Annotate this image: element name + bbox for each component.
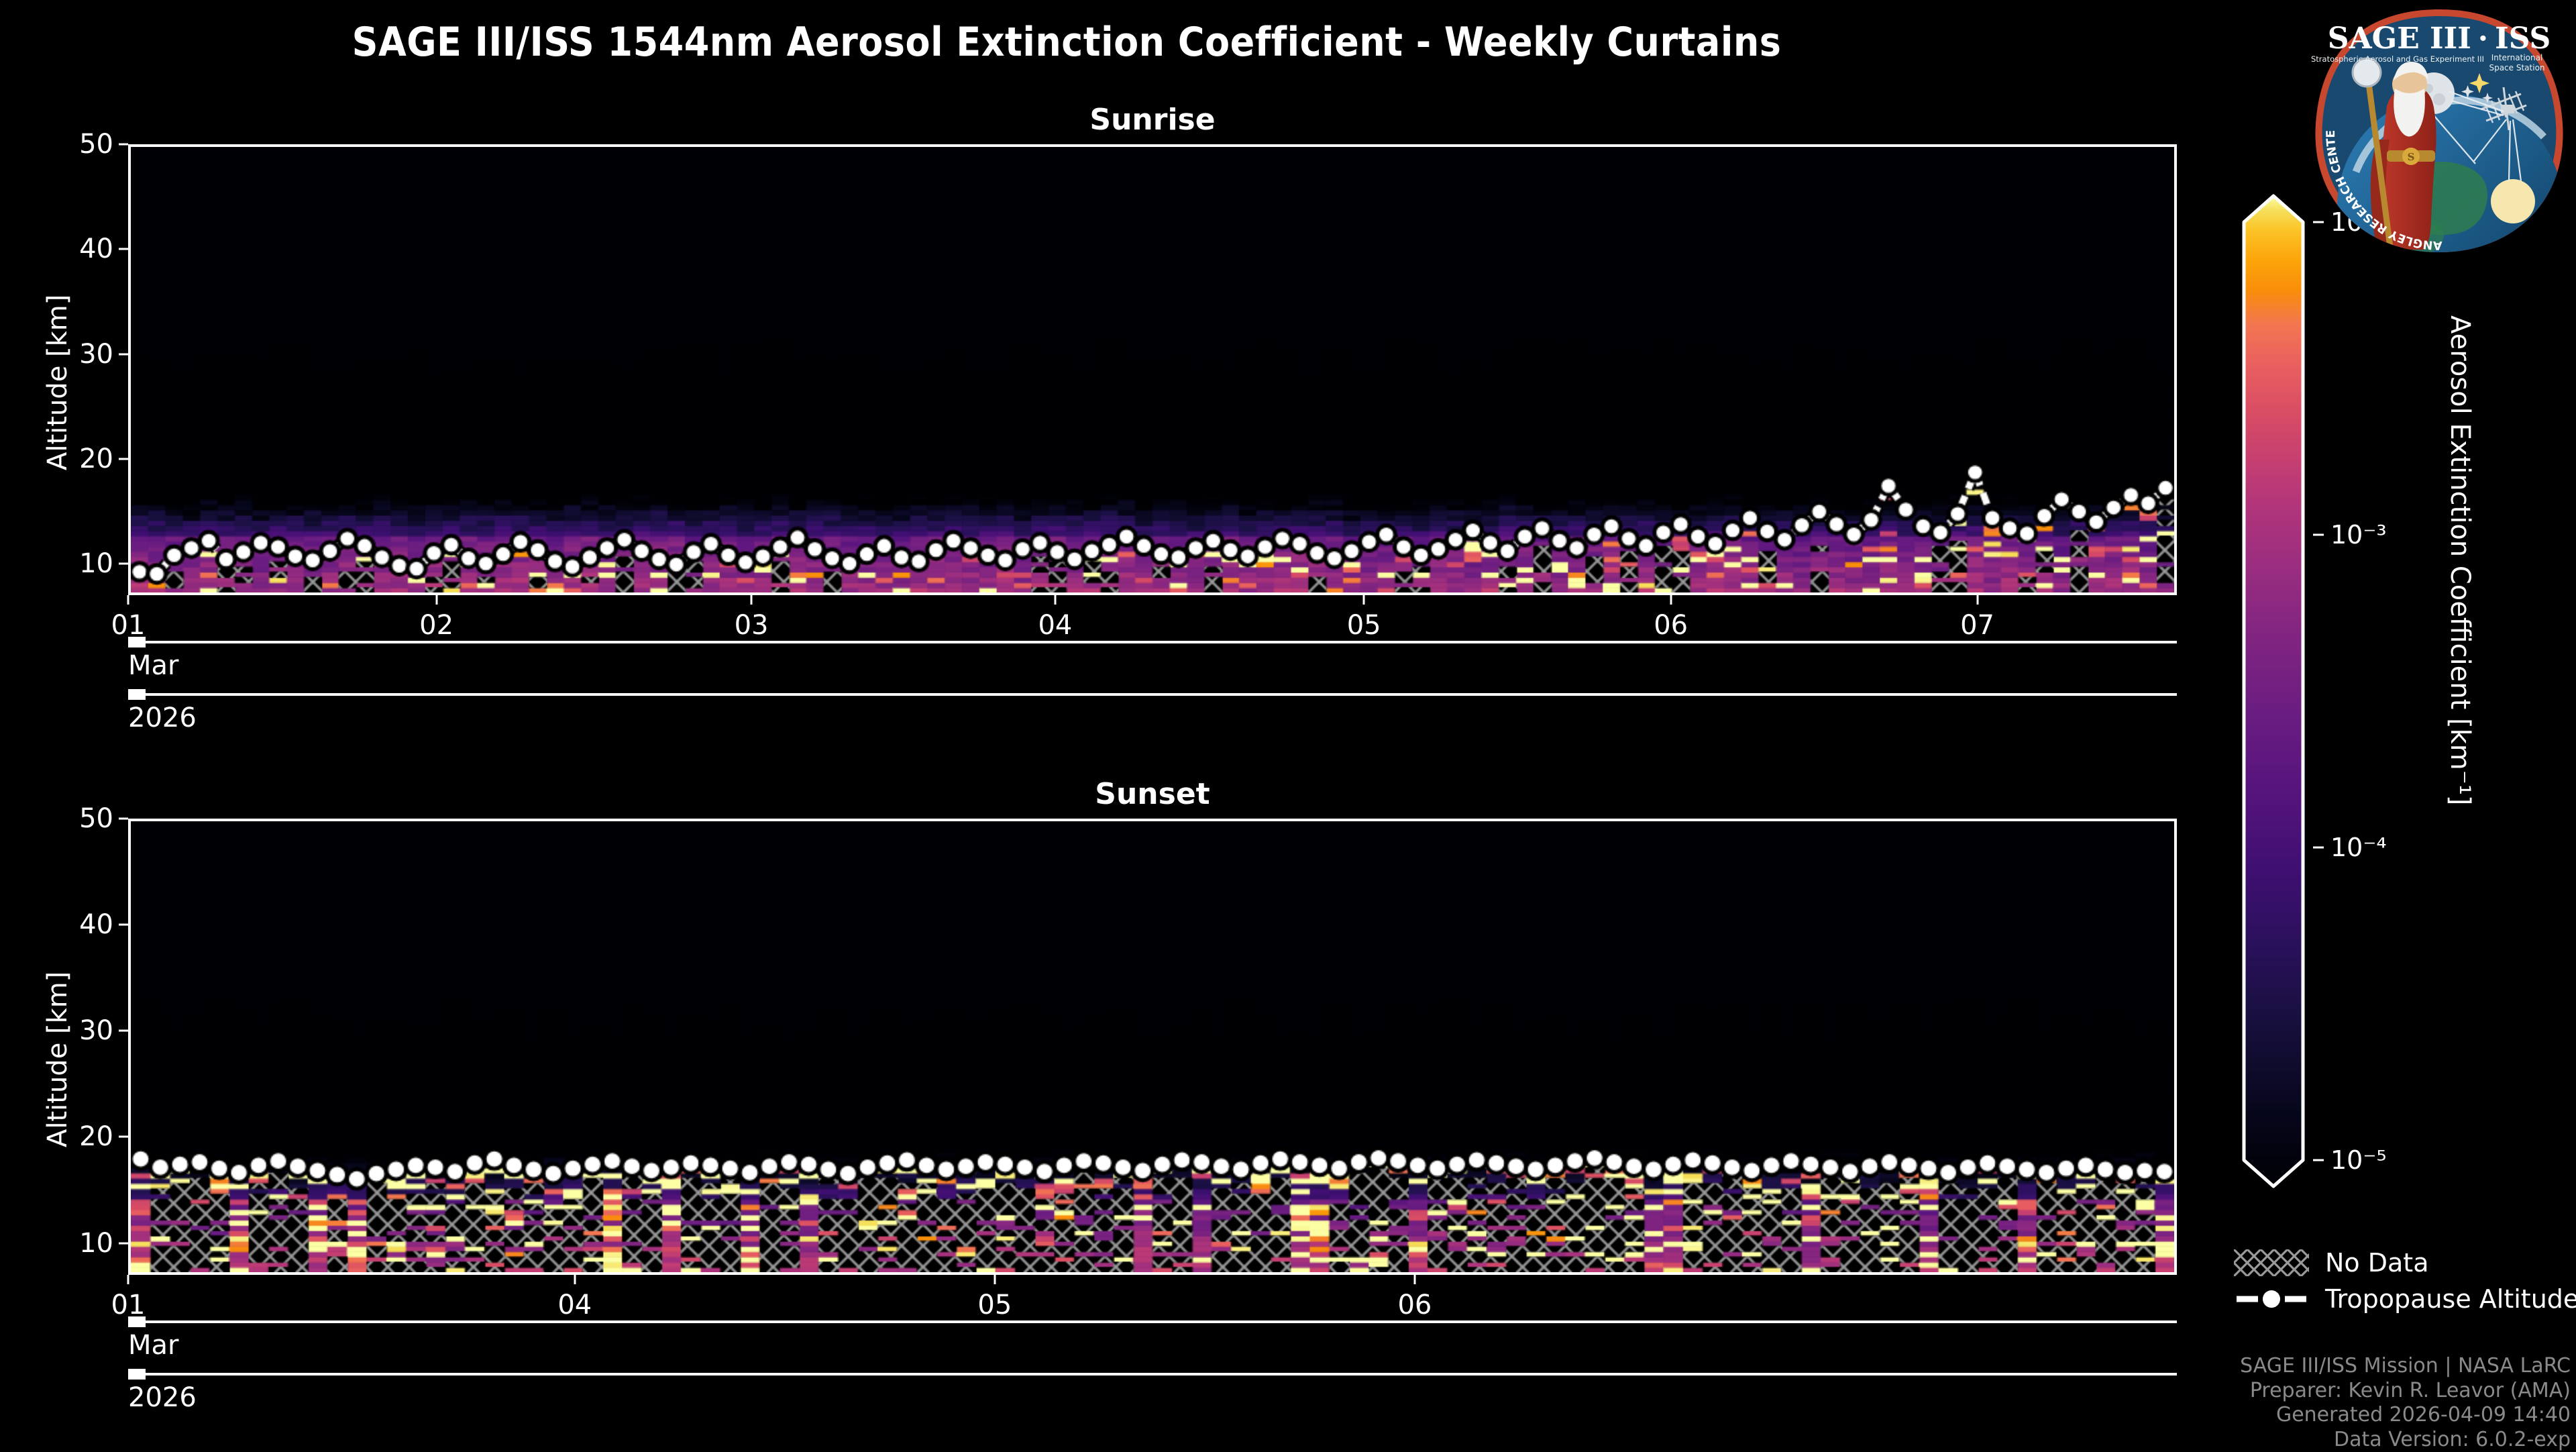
date-nub <box>128 1369 146 1380</box>
legend: No Data Tropopause Altitude <box>2234 1245 2569 1317</box>
y-tick-label-20: 20 <box>79 444 113 474</box>
date-spine <box>128 641 2177 643</box>
date-nub <box>128 689 146 700</box>
x-tick-label-05: 05 <box>1347 610 1381 641</box>
date-row-year: 2026 <box>128 1373 2177 1420</box>
legend-item-tropopause[interactable]: Tropopause Altitude <box>2234 1281 2569 1317</box>
colorbar-label: Aerosol Extinction Coefficient [km⁻¹] <box>2445 315 2475 806</box>
y-tick-label-30: 30 <box>79 1015 113 1046</box>
logo-title: SAGE III·ISS <box>2328 21 2551 56</box>
y-tick-mark <box>119 144 128 146</box>
x-tick-label-04: 04 <box>1038 610 1072 641</box>
x-tick-mark <box>127 595 129 605</box>
y-tick-mark <box>119 1136 128 1138</box>
x-tick-mark <box>1413 1275 1415 1284</box>
panel-title-sunset: Sunset <box>128 777 2177 811</box>
x-tick-label-06: 06 <box>1654 610 1688 641</box>
y-axis-label: Altitude [km] <box>42 295 73 470</box>
date-label-year: 2026 <box>128 703 197 733</box>
colorbar-tick-mark <box>2313 847 2324 849</box>
y-tick-label-20: 20 <box>79 1121 113 1152</box>
colorbar-tick-label-2: 10⁻⁴ <box>2330 833 2387 862</box>
date-spine <box>128 693 2177 696</box>
colorbar-gradient <box>2234 191 2313 1191</box>
date-nub <box>128 1316 146 1327</box>
x-tick-mark <box>574 1275 576 1284</box>
y-axis-label: Altitude [km] <box>42 972 73 1147</box>
date-row-month: Mar <box>128 1320 2177 1367</box>
legend-item-no-data[interactable]: No Data <box>2234 1245 2569 1281</box>
date-row-month: Mar <box>128 641 2177 688</box>
colorbar-tick-label-3: 10⁻⁵ <box>2330 1145 2387 1175</box>
colorbar-tick-mark <box>2313 533 2324 535</box>
y-tick-label-30: 30 <box>79 339 113 370</box>
x-tick-mark <box>1670 595 1672 605</box>
colorbar-tick-mark <box>2313 1159 2324 1161</box>
y-tick-label-10: 10 <box>79 548 113 579</box>
date-row-year: 2026 <box>128 693 2177 740</box>
credit-version: Data Version: 6.0.2-exp <box>2240 1428 2571 1452</box>
y-tick-label-50: 50 <box>79 803 113 834</box>
heatmap-sunrise[interactable] <box>128 144 2177 595</box>
y-tick-mark <box>119 924 128 926</box>
x-tick-label-03: 03 <box>735 610 769 641</box>
colorbar-tick-label-1: 10⁻³ <box>2330 520 2387 550</box>
logo-caption-right-2: Space Station <box>2489 63 2544 72</box>
credit-preparer: Preparer: Kevin R. Leavor (AMA) <box>2240 1379 2571 1404</box>
x-tick-mark <box>435 595 437 605</box>
y-tick-label-50: 50 <box>79 129 113 160</box>
legend-label-tropopause: Tropopause Altitude <box>2325 1284 2576 1314</box>
x-tick-label-02: 02 <box>419 610 453 641</box>
x-tick-label-06: 06 <box>1397 1290 1432 1320</box>
logo-caption-left: Stratospheric Aerosol and Gas Experiment… <box>2311 54 2484 64</box>
x-tick-mark <box>751 595 753 605</box>
y-tick-mark <box>119 1030 128 1032</box>
panel-sunset: Sunset Altitude [km]102030405001040506 <box>128 819 2177 1275</box>
colorbar: 10⁻²10⁻³10⁻⁴10⁻⁵ <box>2234 191 2313 1191</box>
x-tick-mark <box>994 1275 996 1284</box>
y-tick-label-10: 10 <box>79 1228 113 1259</box>
date-nub <box>128 637 146 647</box>
date-label-month: Mar <box>128 650 178 681</box>
tropopause-swatch <box>2234 1286 2309 1312</box>
logo-caption-right-1: International <box>2491 53 2543 62</box>
x-tick-mark <box>1976 595 1978 605</box>
credit-generated: Generated 2026-04-09 14:40 <box>2240 1403 2571 1428</box>
panel-title-sunrise: Sunrise <box>128 103 2177 137</box>
legend-label-no-data: No Data <box>2325 1248 2429 1278</box>
no-data-swatch <box>2234 1249 2309 1276</box>
svg-text:S: S <box>2408 151 2415 163</box>
y-tick-mark <box>119 818 128 820</box>
y-tick-label-40: 40 <box>79 234 113 264</box>
y-tick-mark <box>119 1242 128 1244</box>
x-tick-mark <box>1054 595 1056 605</box>
y-tick-mark <box>119 563 128 565</box>
date-label-month: Mar <box>128 1330 178 1361</box>
sage-iii-iss-mission-logo: S SAGE III·ISS Stratospheric Aerosol and… <box>2308 5 2571 258</box>
date-label-year: 2026 <box>128 1382 197 1413</box>
date-spine <box>128 1320 2177 1323</box>
x-tick-label-07: 07 <box>1960 610 1994 641</box>
logo-svg: S SAGE III·ISS Stratospheric Aerosol and… <box>2308 5 2571 258</box>
page-title: SAGE III/ISS 1544nm Aerosol Extinction C… <box>0 19 2133 66</box>
y-tick-mark <box>119 458 128 460</box>
y-tick-label-40: 40 <box>79 909 113 940</box>
x-tick-label-04: 04 <box>557 1290 592 1320</box>
credit-mission: SAGE III/ISS Mission | NASA LaRC <box>2240 1354 2571 1379</box>
y-tick-mark <box>119 353 128 355</box>
date-spine <box>128 1373 2177 1376</box>
credits-block: SAGE III/ISS Mission | NASA LaRC Prepare… <box>2240 1354 2571 1452</box>
logo-sun <box>2491 179 2535 223</box>
heatmap-sunset[interactable] <box>128 819 2177 1275</box>
x-tick-mark <box>1363 595 1365 605</box>
x-tick-mark <box>127 1275 129 1284</box>
figure-canvas: SAGE III/ISS 1544nm Aerosol Extinction C… <box>0 0 2576 1449</box>
panel-sunrise: Sunrise Altitude [km]1020304050010203040… <box>128 144 2177 595</box>
x-tick-label-05: 05 <box>977 1290 1012 1320</box>
y-tick-mark <box>119 248 128 250</box>
